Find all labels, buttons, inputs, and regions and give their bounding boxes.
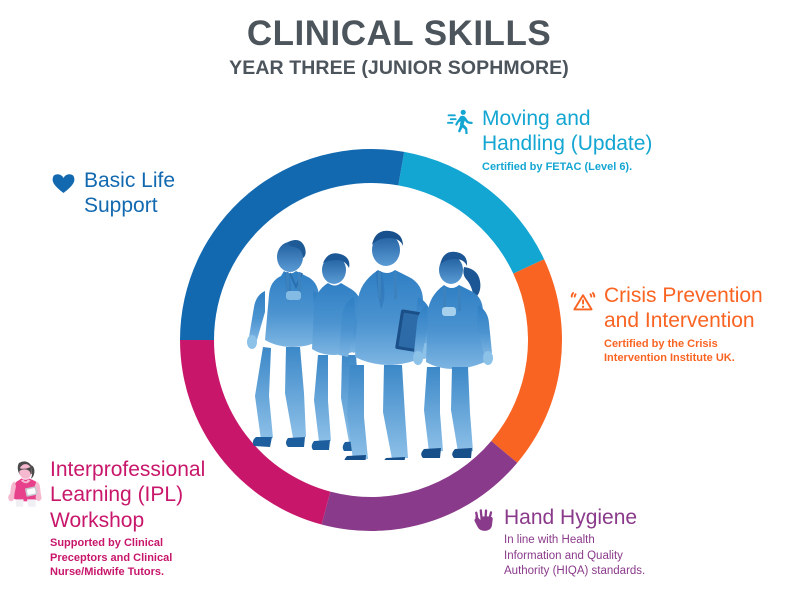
callout-note: Certified by FETAC (Level 6). <box>482 160 652 175</box>
warning-triangle-icon <box>570 287 596 318</box>
callout-label: Moving and Handling (Update) <box>482 106 652 157</box>
nurses-photo-svg <box>238 215 496 460</box>
page-subtitle: YEAR THREE (JUNIOR SOPHMORE) <box>0 57 798 79</box>
donut-segment-crisis-prevention[interactable] <box>491 259 562 463</box>
clinical-skills-poster: CLINICAL SKILLS YEAR THREE (JUNIOR SOPHM… <box>0 0 798 599</box>
heart-icon <box>52 173 75 199</box>
callout-interprofessional-learning[interactable]: Interprofessional Learning (IPL) Worksho… <box>8 457 234 580</box>
page-title: CLINICAL SKILLS <box>0 14 798 53</box>
callout-note: Supported by Clinical Preceptors and Cli… <box>50 536 205 580</box>
callout-note: In line with Health Information and Qual… <box>504 533 645 579</box>
callout-moving-and-handling[interactable]: Moving and Handling (Update) Certified b… <box>447 106 777 174</box>
hand-icon <box>472 507 496 538</box>
callout-label: Interprofessional Learning (IPL) Worksho… <box>50 457 205 533</box>
callout-basic-life-support[interactable]: Basic Life Support <box>52 168 237 219</box>
callout-hand-hygiene[interactable]: Hand Hygiene In line with Health Informa… <box>472 505 772 579</box>
poster-heading: CLINICAL SKILLS YEAR THREE (JUNIOR SOPHM… <box>0 14 798 80</box>
callout-label: Crisis Prevention and Intervention <box>604 283 763 334</box>
running-person-icon <box>447 108 473 139</box>
callout-label: Hand Hygiene <box>504 505 645 530</box>
callout-label: Basic Life Support <box>84 168 175 219</box>
nurses-photo <box>238 215 496 460</box>
callout-note: Certified by the Crisis Intervention Ins… <box>604 337 763 366</box>
callout-crisis-prevention[interactable]: Crisis Prevention and Intervention Certi… <box>570 283 798 366</box>
nurse-icon <box>8 459 42 512</box>
